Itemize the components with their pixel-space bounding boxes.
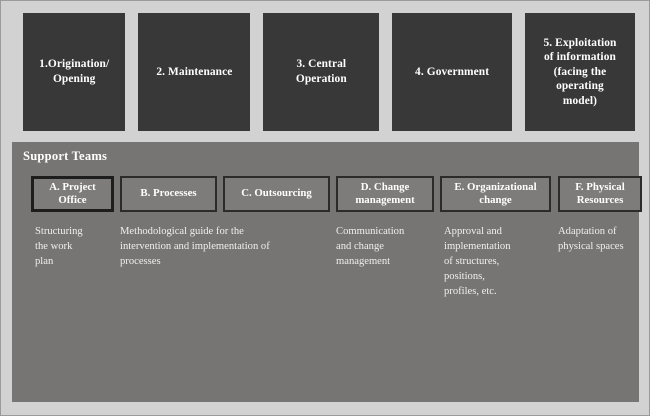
team-box-label: D. Change management bbox=[355, 181, 414, 207]
team-box-physical-resources[interactable]: F. Physical Resources bbox=[558, 176, 642, 212]
team-box-processes[interactable]: B. Processes bbox=[120, 176, 217, 212]
process-box-origination-opening[interactable]: 1.Origination/ Opening bbox=[23, 13, 125, 131]
process-box-central-operation[interactable]: 3. Central Operation bbox=[263, 13, 379, 131]
process-stage-row: 1.Origination/ Opening 2. Maintenance 3.… bbox=[23, 13, 635, 131]
team-box-label: F. Physical Resources bbox=[575, 181, 624, 207]
team-description-change-management: Communication and change management bbox=[336, 224, 436, 269]
team-description-physical-resources: Adaptation of physical spaces bbox=[558, 224, 650, 254]
support-teams-panel: Support Teams A. Project Office B. Proce… bbox=[12, 142, 639, 402]
team-description-project-office: Structuring the work plan bbox=[35, 224, 107, 269]
process-box-maintenance[interactable]: 2. Maintenance bbox=[138, 13, 250, 131]
team-box-project-office[interactable]: A. Project Office bbox=[31, 176, 114, 212]
team-description-organizational-change: Approval and implementation of structure… bbox=[444, 224, 544, 299]
team-description-processes: Methodological guide for the interventio… bbox=[120, 224, 320, 269]
support-teams-heading: Support Teams bbox=[23, 149, 107, 164]
process-box-label: 4. Government bbox=[415, 65, 489, 80]
process-box-label: 1.Origination/ Opening bbox=[39, 57, 109, 86]
team-box-label: A. Project Office bbox=[49, 181, 96, 207]
process-box-label: 2. Maintenance bbox=[156, 65, 232, 80]
team-box-label: C. Outsourcing bbox=[241, 187, 312, 200]
team-box-organizational-change[interactable]: E. Organizational change bbox=[440, 176, 551, 212]
diagram-canvas: 1.Origination/ Opening 2. Maintenance 3.… bbox=[0, 0, 650, 416]
support-team-box-row: A. Project Office B. Processes C. Outsou… bbox=[23, 176, 635, 212]
process-box-label: 5. Exploitation of information (facing t… bbox=[543, 36, 616, 109]
process-box-government[interactable]: 4. Government bbox=[392, 13, 512, 131]
team-box-label: E. Organizational change bbox=[454, 181, 536, 207]
process-box-exploitation-of-information[interactable]: 5. Exploitation of information (facing t… bbox=[525, 13, 635, 131]
support-team-description-row: Structuring the work plan Methodological… bbox=[23, 224, 635, 374]
team-box-change-management[interactable]: D. Change management bbox=[336, 176, 434, 212]
process-box-label: 3. Central Operation bbox=[296, 57, 347, 86]
team-box-label: B. Processes bbox=[140, 187, 196, 200]
team-box-outsourcing[interactable]: C. Outsourcing bbox=[223, 176, 330, 212]
